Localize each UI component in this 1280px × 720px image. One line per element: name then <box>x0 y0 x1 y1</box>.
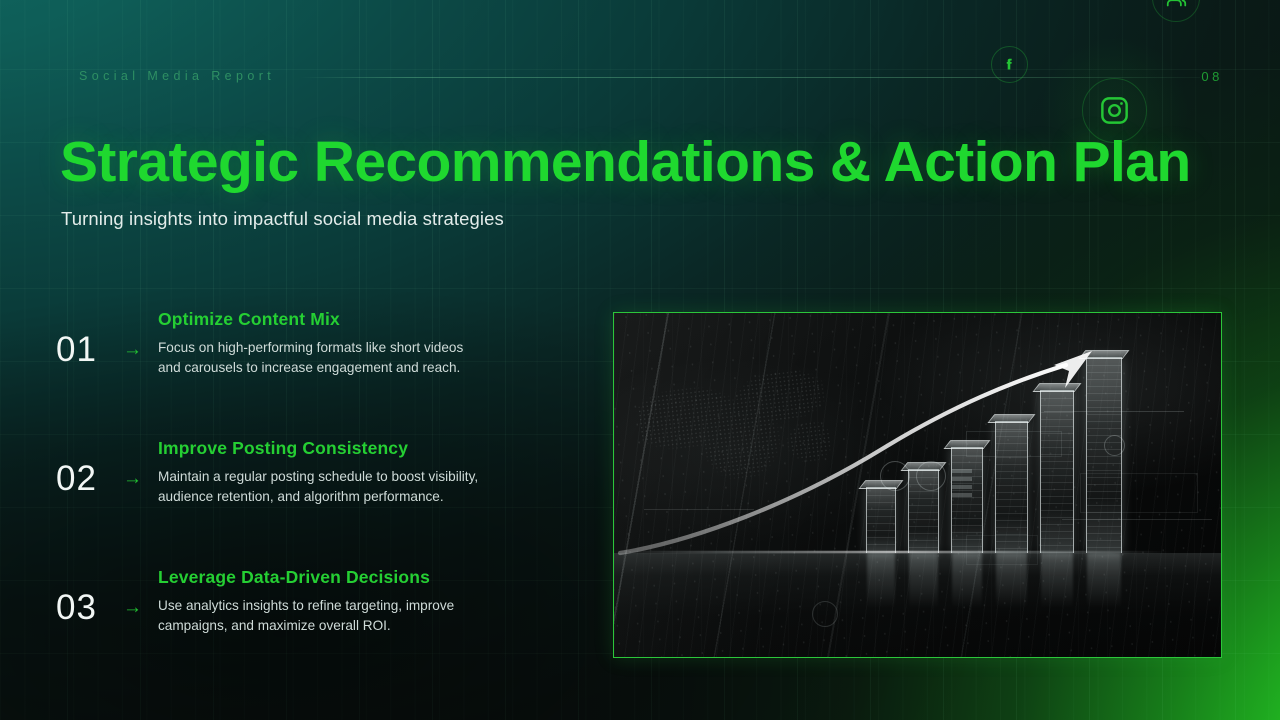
chart-bar <box>951 447 983 553</box>
list-item: 02 → Improve Posting Consistency Maintai… <box>0 425 560 554</box>
arrow-right-icon: → <box>123 598 142 617</box>
chart-bar <box>908 469 939 553</box>
item-number: 02 <box>56 461 97 496</box>
item-body: Focus on high-performing formats like sh… <box>158 338 488 378</box>
item-heading: Optimize Content Mix <box>158 309 340 330</box>
page-subtitle: Turning insights into impactful social m… <box>61 208 504 230</box>
image-panel <box>613 312 1222 658</box>
hud-bar <box>644 509 754 510</box>
facebook-icon <box>991 46 1028 83</box>
item-body: Maintain a regular posting schedule to b… <box>158 467 488 507</box>
item-heading: Improve Posting Consistency <box>158 438 408 459</box>
hud-bar <box>1062 519 1212 520</box>
social-badge-icon <box>1152 0 1200 22</box>
page-number: 08 <box>1201 69 1223 84</box>
arrow-right-icon: → <box>123 340 142 359</box>
eyebrow-label: Social Media Report <box>79 69 275 83</box>
recommendations-list: 01 → Optimize Content Mix Focus on high-… <box>0 296 560 683</box>
item-heading: Leverage Data-Driven Decisions <box>158 567 430 588</box>
chart-bar <box>1086 357 1122 553</box>
slide: Social Media Report 08 Strategic Recomme… <box>0 0 1280 720</box>
list-item: 01 → Optimize Content Mix Focus on high-… <box>0 296 560 425</box>
page-title: Strategic Recommendations & Action Plan <box>60 133 1191 193</box>
chart-bar <box>1040 390 1074 553</box>
item-body: Use analytics insights to refine targeti… <box>158 596 488 636</box>
list-item: 03 → Leverage Data-Driven Decisions Use … <box>0 554 560 683</box>
chart-bar <box>866 487 896 553</box>
item-number: 01 <box>56 332 97 367</box>
arrow-right-icon: → <box>123 469 142 488</box>
item-number: 03 <box>56 590 97 625</box>
header-divider <box>300 77 1200 78</box>
chart-bar <box>995 421 1028 553</box>
world-map-graphic <box>633 350 837 500</box>
floor-reflection <box>614 553 1221 657</box>
growth-analytics-image <box>614 313 1221 657</box>
